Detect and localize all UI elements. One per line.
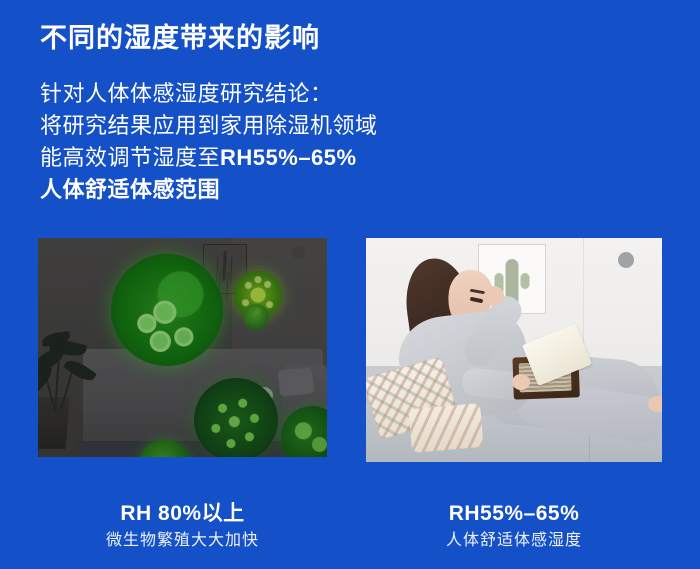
caption-left-main: RH 80%以上 bbox=[38, 500, 327, 528]
microbe-sphere-large bbox=[111, 254, 223, 366]
promo-slide: 不同的湿度带来的影响 针对人体体感湿度研究结论： 将研究结果应用到家用除湿机领域… bbox=[0, 0, 700, 569]
open-book bbox=[502, 332, 596, 405]
scene-bright-room bbox=[366, 238, 662, 462]
patterned-pillow-secondary bbox=[408, 403, 484, 453]
page-title: 不同的湿度带来的影响 bbox=[40, 18, 320, 58]
plant-stem bbox=[54, 357, 60, 411]
body-line-3: 能高效调节湿度至RH55%–65% bbox=[40, 142, 560, 174]
foot bbox=[648, 396, 662, 412]
scene-dark-room bbox=[38, 238, 327, 457]
body-line-4: 人体舒适体感范围 bbox=[40, 174, 560, 206]
microbe-sphere-foreground bbox=[194, 378, 278, 457]
body-copy-block: 针对人体体感湿度研究结论： 将研究结果应用到家用除湿机领域 能高效调节湿度至RH… bbox=[40, 78, 560, 206]
house-plant bbox=[38, 325, 104, 411]
body-line-2: 将研究结果应用到家用除湿机领域 bbox=[40, 110, 560, 142]
humidity-range-highlight: RH55%–65% bbox=[220, 145, 357, 170]
caption-right-main: RH55%–65% bbox=[366, 500, 662, 528]
microbe-sphere-tiny bbox=[243, 304, 269, 330]
sofa-cushion bbox=[278, 367, 315, 396]
caption-left-sub: 微生物繁殖大大加快 bbox=[38, 528, 327, 554]
image-panel-right-comfort-humidity bbox=[366, 238, 662, 462]
caption-right-sub: 人体舒适体感湿度 bbox=[366, 528, 662, 554]
image-panel-left-high-humidity bbox=[38, 238, 327, 457]
caption-right: RH55%–65% 人体舒适体感湿度 bbox=[366, 500, 662, 554]
hand-holding-book bbox=[512, 374, 530, 390]
wall-speaker-icon bbox=[292, 246, 305, 259]
plant-stem bbox=[60, 368, 74, 411]
body-line-1: 针对人体体感湿度研究结论： bbox=[40, 78, 560, 110]
plant-leaf bbox=[38, 363, 56, 394]
body-line-3-prefix: 能高效调节湿度至 bbox=[40, 145, 220, 170]
caption-left: RH 80%以上 微生物繁殖大大加快 bbox=[38, 500, 327, 554]
